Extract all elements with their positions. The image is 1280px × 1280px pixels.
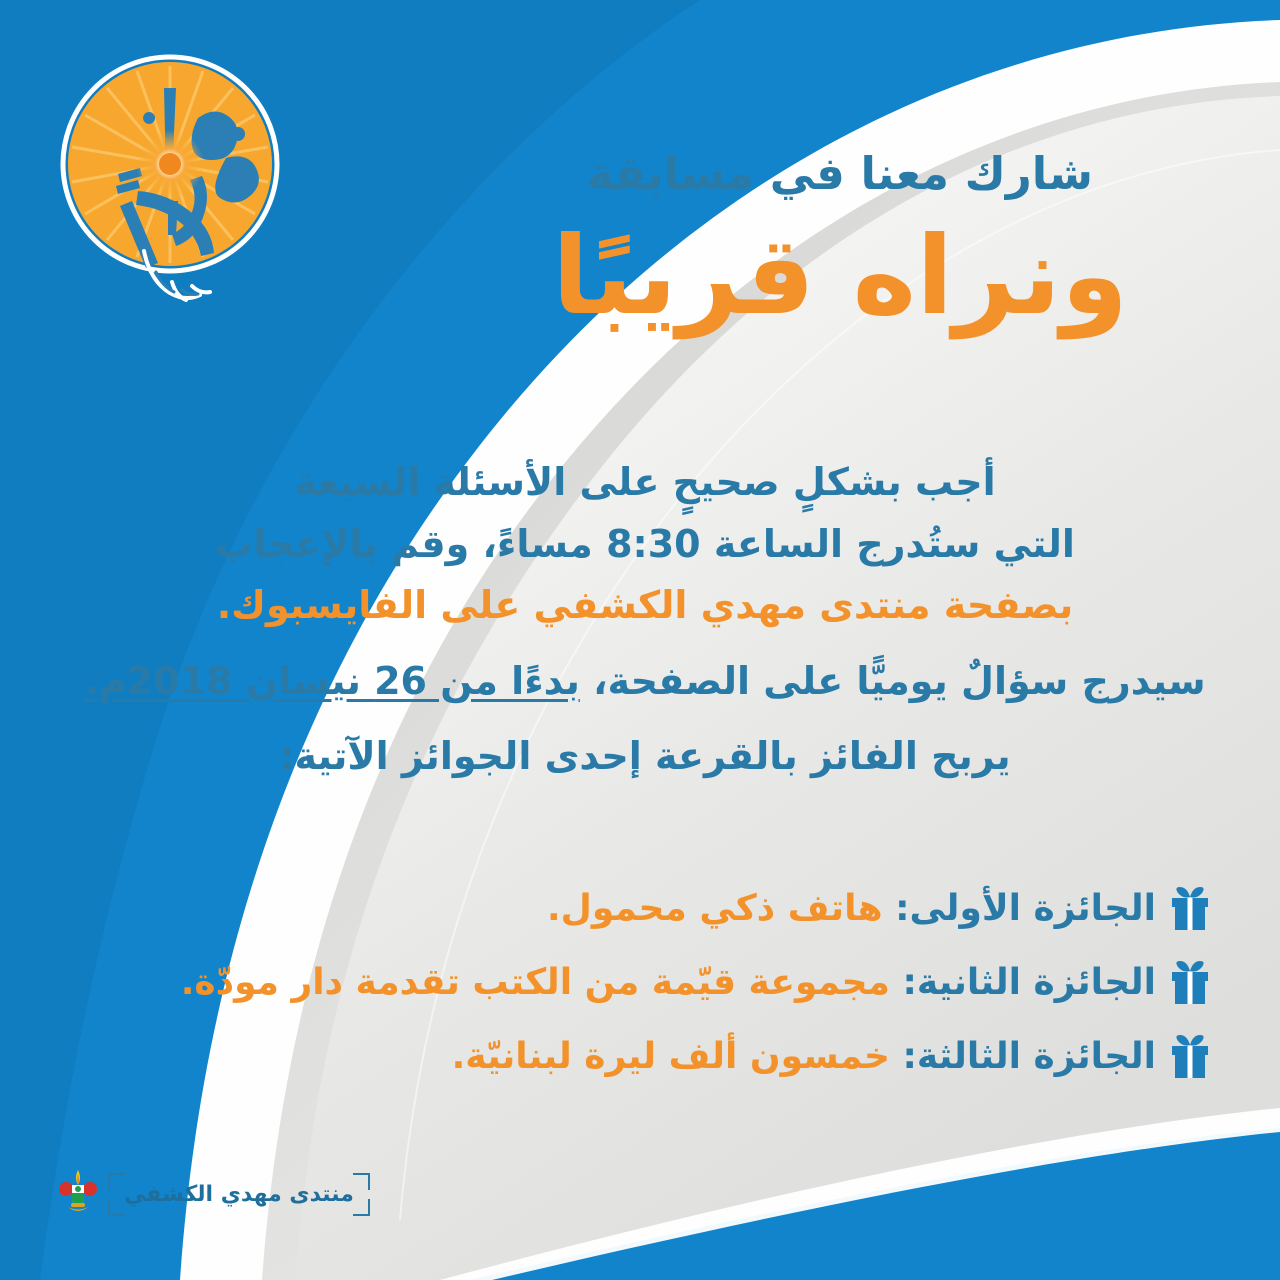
- prize-list: الجائزة الأولى: هاتف ذكي محمول. الجائزة …: [80, 872, 1210, 1094]
- body-spacer-2: [80, 712, 1210, 726]
- prize-label: الجائزة الثانية:: [902, 962, 1156, 1003]
- schedule-prefix: سيدرج سؤالٌ يوميًّا على الصفحة،: [580, 659, 1206, 703]
- prize-text: الجائزة الأولى: هاتف ذكي محمول.: [547, 889, 1156, 929]
- draw-line: يربح الفائز بالقرعة إحدى الجوائز الآتية:: [80, 726, 1210, 788]
- prize-label: الجائزة الأولى:: [895, 888, 1156, 929]
- prize-label: الجائزة الثالثة:: [902, 1036, 1156, 1077]
- gift-box-icon: [1170, 887, 1210, 931]
- gift-box-icon: [1170, 961, 1210, 1005]
- body-spacer: [80, 637, 1210, 651]
- headline-title: ونراه قريبًا: [460, 206, 1220, 349]
- bracket-bottom-left-icon: [108, 1199, 125, 1216]
- body-text: أجب بشكلٍ صحيحٍ على الأسئلة السبعة التي …: [80, 452, 1210, 788]
- prize-row: الجائزة الثالثة: خمسون ألف ليرة لبنانيّة…: [80, 1020, 1210, 1094]
- footer-name-frame: منتدى مهدي الكشفي: [108, 1173, 370, 1216]
- headline: شارك معنا في مسابقة ونراه قريبًا: [460, 146, 1220, 349]
- prize-value: خمسون ألف ليرة لبنانيّة.: [452, 1036, 890, 1077]
- body-line-3: بصفحة منتدى مهدي الكشفي على الفايسبوك.: [80, 575, 1210, 637]
- bracket-top-right-icon: [353, 1173, 370, 1190]
- bracket-top-left-icon: [108, 1173, 125, 1190]
- prize-row: الجائزة الثانية: مجموعة قيّمة من الكتب ت…: [80, 946, 1210, 1020]
- body-line-1: أجب بشكلٍ صحيحٍ على الأسئلة السبعة: [80, 452, 1210, 514]
- headline-subtitle: شارك معنا في مسابقة: [460, 146, 1220, 202]
- logo-svg: [52, 46, 292, 306]
- brand-logo: [52, 46, 292, 306]
- footer-branding: منتدى مهدي الكشفي: [58, 1168, 370, 1220]
- body-line-2: التي ستُدرج الساعة 8:30 مساءً، وقم بالإع…: [80, 514, 1210, 576]
- prize-value: مجموعة قيّمة من الكتب تقدمة دار مودّة.: [181, 962, 890, 1003]
- prize-row: الجائزة الأولى: هاتف ذكي محمول.: [80, 872, 1210, 946]
- schedule-start-date: بدءًا من 26 نيسان 2018م.: [84, 659, 579, 703]
- prize-value: هاتف ذكي محمول.: [547, 888, 883, 929]
- schedule-line: سيدرج سؤالٌ يوميًّا على الصفحة، بدءًا من…: [80, 651, 1210, 713]
- bracket-bottom-right-icon: [353, 1199, 370, 1216]
- prize-text: الجائزة الثالثة: خمسون ألف ليرة لبنانيّة…: [452, 1037, 1156, 1077]
- gift-box-icon: [1170, 1035, 1210, 1079]
- footer-organization-name: منتدى مهدي الكشفي: [124, 1182, 354, 1207]
- prize-text: الجائزة الثانية: مجموعة قيّمة من الكتب ت…: [181, 963, 1156, 1003]
- scout-fleur-de-lis-emblem: [58, 1168, 98, 1220]
- poster-canvas: شارك معنا في مسابقة ونراه قريبًا أجب بشك…: [0, 0, 1280, 1280]
